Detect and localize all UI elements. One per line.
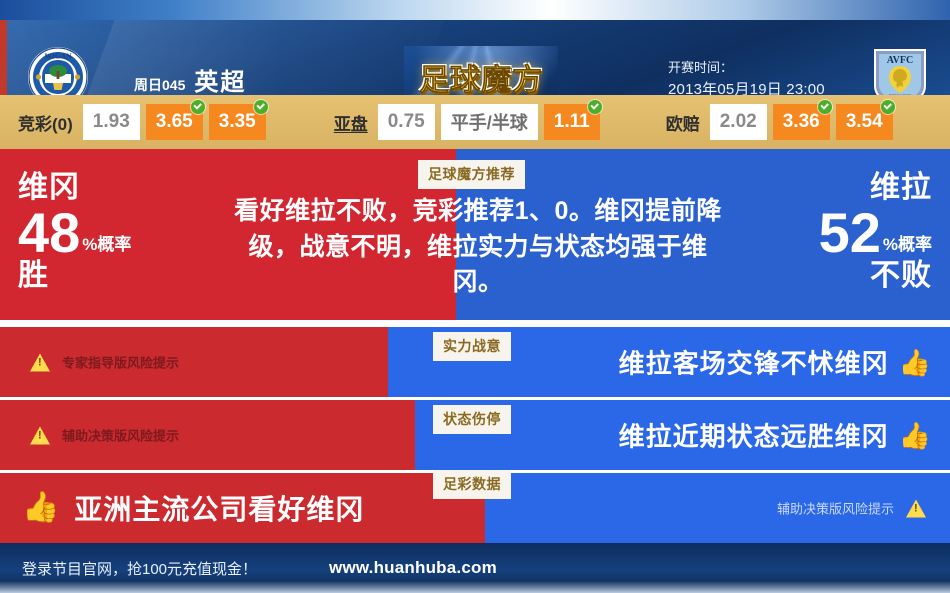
odds-cell-jingcai-3[interactable]: 3.35 <box>209 104 266 140</box>
thumbs-up-icon: 👍 <box>899 422 932 448</box>
match-prediction-card: WIGAN ATHLETIC 周日045 英超 足球魔方 开赛时间： 2013年… <box>0 0 950 593</box>
row1-risk-note: 专家指导版风险提示 <box>30 353 179 372</box>
odds-group-label: 亚盘 <box>334 110 368 135</box>
row3-chip: 足彩数据 <box>433 470 511 499</box>
away-percent-unit: %概率 <box>883 236 932 259</box>
thumbs-up-icon: 👍 <box>899 349 932 375</box>
warning-triangle-icon <box>30 353 50 371</box>
row3-risk-text: 辅助决策版风险提示 <box>777 499 894 518</box>
away-verdict: 不败 <box>819 261 932 291</box>
odds-cell-asian-line[interactable]: 平手/半球 <box>441 104 538 140</box>
row2-red-block: 辅助决策版风险提示 <box>0 400 415 470</box>
recommend-chip: 足球魔方推荐 <box>418 160 525 189</box>
row2-headline-text: 维拉近期状态远胜维冈 <box>619 417 889 454</box>
away-team-name: 维拉 <box>819 173 932 203</box>
brand-logo: 足球魔方 <box>404 46 558 95</box>
away-percent: 52 <box>819 207 881 259</box>
aston-villa-crest-icon: AVFC PREPARED <box>872 47 928 95</box>
wigan-athletic-crest-icon: WIGAN ATHLETIC <box>26 45 90 95</box>
check-tick-icon <box>254 100 268 114</box>
match-league: 英超 <box>194 62 246 95</box>
home-team-name: 维冈 <box>18 173 131 203</box>
odds-group-european: 欧赔 2.02 3.36 3.54 <box>666 104 899 140</box>
warning-triangle-icon <box>906 499 926 517</box>
bottom-sheen <box>0 581 950 593</box>
kickoff-label: 开赛时间： <box>668 58 825 78</box>
home-percent-unit: %概率 <box>82 236 131 259</box>
row1-risk-text: 专家指导版风险提示 <box>62 353 179 372</box>
home-stat: 维冈 48 %概率 胜 <box>18 173 131 291</box>
kickoff-time: 2013年05月19日 23:00 <box>668 78 825 95</box>
odds-cell-asian-1[interactable]: 0.75 <box>378 104 435 140</box>
row3-blue-block: 辅助决策版风险提示 <box>485 473 950 543</box>
row2-risk-text: 辅助决策版风险提示 <box>62 426 179 445</box>
footer-promo: 登录节目官网，抢100元充值现金！ <box>22 558 257 579</box>
brand-name: 足球魔方 <box>419 55 543 95</box>
row2-risk-note: 辅助决策版风险提示 <box>30 426 179 445</box>
odds-group-label: 欧赔 <box>666 110 700 135</box>
away-stat: 维拉 52 %概率 不败 <box>819 173 932 291</box>
home-verdict: 胜 <box>18 261 131 291</box>
odds-cell-euro-1[interactable]: 2.02 <box>710 104 767 140</box>
header-accent-bar <box>0 20 7 95</box>
row3-headline-text: 亚洲主流公司看好维冈 <box>74 488 364 528</box>
svg-text:WIGAN: WIGAN <box>44 52 72 61</box>
check-tick-icon <box>588 100 602 114</box>
warning-triangle-icon <box>30 426 50 444</box>
odds-group-jingcai: 竞彩(0) 1.93 3.65 3.35 <box>18 104 272 140</box>
row2-headline: 维拉近期状态远胜维冈 👍 <box>619 417 932 454</box>
kickoff-info: 开赛时间： 2013年05月19日 23:00 <box>668 58 825 95</box>
check-tick-icon <box>191 100 205 114</box>
odds-value: 1.11 <box>554 111 590 133</box>
thumbs-up-icon: 👍 <box>22 493 60 523</box>
match-header: WIGAN ATHLETIC 周日045 英超 足球魔方 开赛时间： 2013年… <box>0 20 950 95</box>
odds-bar: 竞彩(0) 1.93 3.65 3.35 亚盘 0.75 平手/半球 1.11 … <box>0 95 950 149</box>
home-percent: 48 <box>18 207 80 259</box>
match-meta: 周日045 英超 <box>134 62 246 95</box>
check-tick-icon <box>881 100 895 114</box>
svg-text:AVFC: AVFC <box>887 55 913 66</box>
check-tick-icon <box>818 100 832 114</box>
footer-url[interactable]: www.huanhuba.com <box>329 558 497 578</box>
row2-chip: 状态伤停 <box>433 405 511 434</box>
row1-red-block: 专家指导版风险提示 <box>0 327 388 397</box>
match-round: 周日045 <box>134 75 185 95</box>
odds-value: 3.36 <box>783 111 820 133</box>
row1-headline: 维拉客场交锋不怵维冈 👍 <box>619 344 932 381</box>
odds-value: 3.35 <box>219 111 256 133</box>
row1-chip: 实力战意 <box>433 332 511 361</box>
odds-group-label: 竞彩(0) <box>18 110 73 135</box>
top-gradient-strip <box>0 0 950 20</box>
odds-value: 3.65 <box>156 111 193 133</box>
row3-headline: 👍 亚洲主流公司看好维冈 <box>22 488 364 528</box>
row1-headline-text: 维拉客场交锋不怵维冈 <box>619 344 889 381</box>
odds-cell-jingcai-2[interactable]: 3.65 <box>146 104 203 140</box>
odds-cell-jingcai-1[interactable]: 1.93 <box>83 104 140 140</box>
odds-cell-euro-2[interactable]: 3.36 <box>773 104 830 140</box>
row3-risk-note: 辅助决策版风险提示 <box>777 499 926 518</box>
odds-cell-asian-3[interactable]: 1.11 <box>544 104 600 140</box>
odds-cell-euro-3[interactable]: 3.54 <box>836 104 893 140</box>
row3-red-block: 👍 亚洲主流公司看好维冈 <box>0 473 485 543</box>
odds-group-asian-handicap: 亚盘 0.75 平手/半球 1.11 <box>334 104 606 140</box>
recommendation-text: 看好维拉不败，竞彩推荐1、0。维冈提前降级，战意不明，维拉实力与状态均强于维冈。 <box>228 194 728 301</box>
odds-value: 3.54 <box>846 111 883 133</box>
